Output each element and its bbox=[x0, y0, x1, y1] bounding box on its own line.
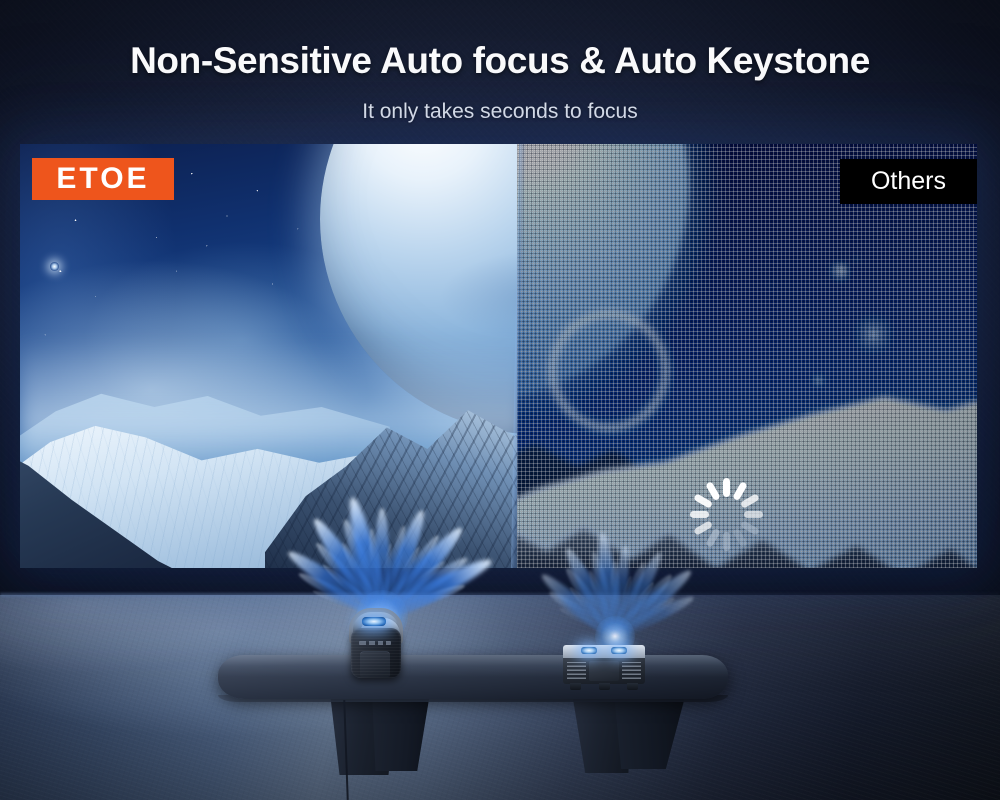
conventional-projector bbox=[563, 645, 645, 690]
conventional-projector-top bbox=[563, 645, 645, 659]
spinner-bar bbox=[723, 532, 730, 551]
etoe-logo-badge: ETOE bbox=[32, 158, 174, 200]
etoe-projector bbox=[348, 608, 404, 678]
others-label-text: Others bbox=[871, 167, 946, 196]
spinner-bar bbox=[690, 511, 709, 518]
page-subtitle: It only takes seconds to focus bbox=[0, 100, 1000, 124]
spinner-bar bbox=[723, 478, 730, 497]
etoe-projector-lens bbox=[362, 617, 386, 626]
screen-half-etoe bbox=[20, 144, 525, 568]
projector-foot-right bbox=[627, 683, 638, 690]
conventional-projector-lens-left bbox=[581, 647, 597, 654]
projector-foot-left bbox=[570, 683, 581, 690]
product-comparison-image: Non-Sensitive Auto focus & Auto Keystone… bbox=[0, 0, 1000, 800]
table-gloss bbox=[218, 655, 728, 677]
page-title: Non-Sensitive Auto focus & Auto Keystone bbox=[0, 40, 1000, 82]
etoe-projector-front-panel bbox=[360, 651, 390, 677]
small-star-right-icon bbox=[814, 376, 823, 385]
others-label-badge: Others bbox=[840, 159, 977, 204]
coffee-table-top bbox=[218, 655, 728, 699]
etoe-projector-ports bbox=[359, 641, 391, 645]
vent-right bbox=[622, 662, 641, 679]
conventional-projector-body bbox=[563, 658, 645, 684]
bright-star-right-icon bbox=[867, 328, 880, 341]
crescent-icon bbox=[831, 264, 847, 280]
vent-left bbox=[567, 662, 586, 679]
projector-foot-center bbox=[599, 683, 610, 690]
spinner-bar bbox=[744, 511, 763, 518]
conventional-projector-panel bbox=[589, 661, 619, 681]
etoe-logo-text: ETOE bbox=[56, 164, 149, 194]
bright-star-icon bbox=[50, 262, 59, 271]
conventional-projector-lens-right bbox=[611, 647, 627, 654]
etoe-projector-body bbox=[351, 628, 401, 678]
wall-floor-joint bbox=[0, 593, 1000, 597]
projection-screen: ETOE Others bbox=[20, 144, 977, 568]
